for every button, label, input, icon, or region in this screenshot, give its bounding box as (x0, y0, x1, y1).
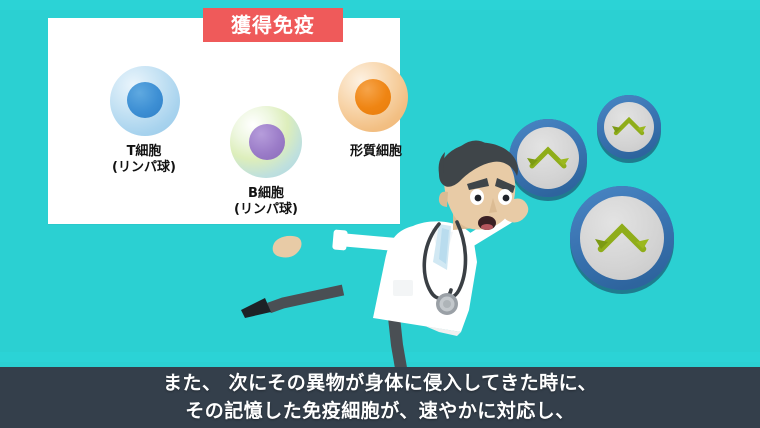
running-doctor-character (225, 140, 545, 368)
doctor-illustration (225, 140, 545, 368)
video-frame: T細胞 (リンパ球) B細胞 (リンパ球) 形質細胞 獲得免疫 (0, 0, 760, 428)
subtitle-bar: また、 次にその異物が身体に侵入してきた時に、 その記憶した免疫細胞が、速やかに… (0, 367, 760, 428)
t-cell-label-line1: T細胞 (84, 144, 204, 160)
acquired-immunity-badge-label: 獲得免疫 (231, 15, 315, 35)
background-band-top (0, 0, 760, 10)
plasma-cell-nucleus (355, 79, 391, 115)
subtitle-line-1: また、 次にその異物が身体に侵入してきた時に、 (163, 370, 597, 398)
t-cell-label-line2: (リンパ球) (84, 160, 204, 176)
double-arrow-chevron-icon (597, 95, 661, 159)
subtitle-line-2: その記憶した免疫細胞が、速やかに対応し、 (185, 398, 575, 426)
plasma-cell-illustration (338, 62, 408, 132)
t-cell-nucleus (127, 82, 163, 118)
immune-medal-bottom (570, 186, 674, 290)
double-arrow-chevron-icon (570, 186, 674, 290)
t-cell-label: T細胞 (リンパ球) (84, 144, 204, 177)
immune-medal-top (597, 95, 661, 159)
t-cell-illustration (110, 66, 180, 136)
acquired-immunity-badge: 獲得免疫 (203, 8, 343, 42)
